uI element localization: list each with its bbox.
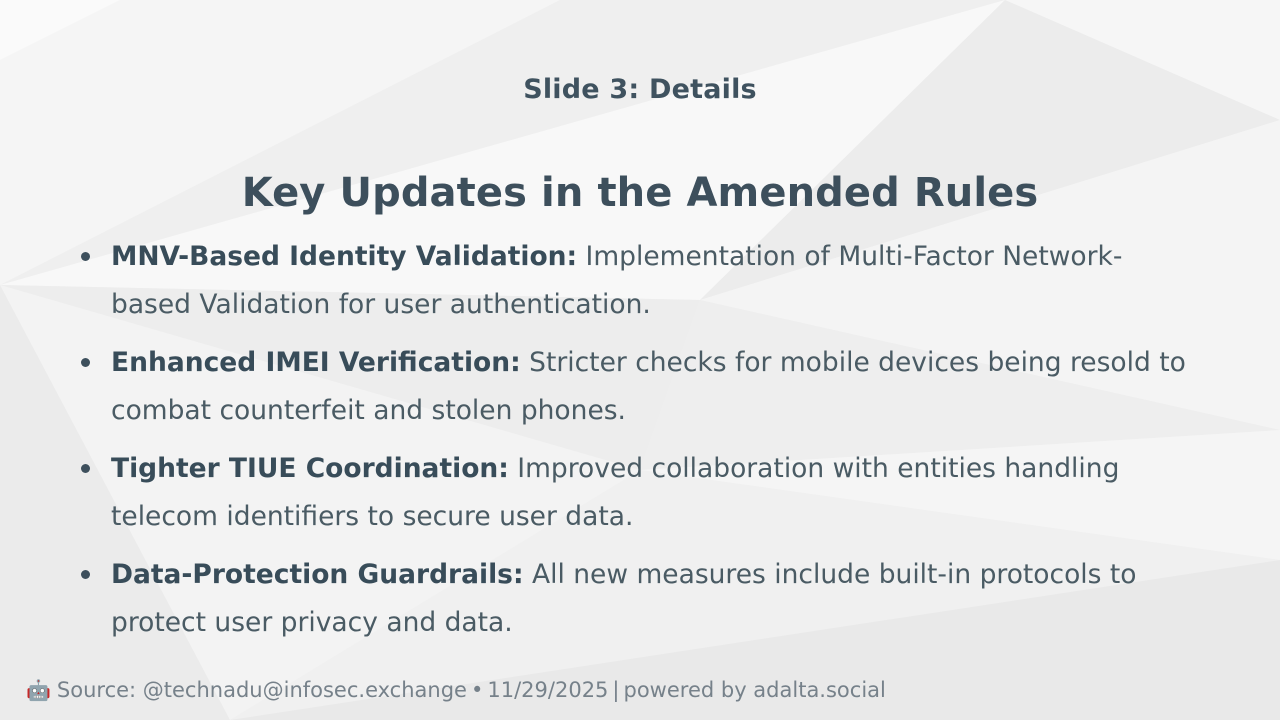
- footer-source: Source: @technadu@infosec.exchange: [57, 678, 467, 702]
- footer-divider: |: [608, 678, 623, 702]
- list-item: MNV-Based Identity Validation: Implement…: [70, 233, 1200, 329]
- bullet-lead: Data-Protection Guardrails:: [111, 559, 524, 590]
- list-item: Enhanced IMEI Verification: Stricter che…: [70, 339, 1200, 435]
- bullet-marker-icon: [81, 358, 90, 367]
- robot-face-icon: 🤖: [26, 678, 51, 702]
- slide-canvas: Slide 3: Details Key Updates in the Amen…: [0, 0, 1280, 720]
- slide-footer: 🤖Source: @technadu@infosec.exchange•11/2…: [26, 676, 886, 704]
- bullet-marker-icon: [81, 464, 90, 473]
- page-title: Key Updates in the Amended Rules: [0, 170, 1280, 216]
- bullet-lead: Enhanced IMEI Verification:: [111, 347, 521, 378]
- slide-eyebrow: Slide 3: Details: [0, 74, 1280, 105]
- bullet-lead: MNV-Based Identity Validation:: [111, 241, 577, 272]
- bullet-list: MNV-Based Identity Validation: Implement…: [70, 233, 1200, 657]
- bullet-lead: Tighter TIUE Coordination:: [111, 453, 509, 484]
- list-item: Data-Protection Guardrails: All new meas…: [70, 551, 1200, 647]
- bullet-marker-icon: [81, 252, 90, 261]
- bullet-marker-icon: [81, 570, 90, 579]
- slide-content: Slide 3: Details Key Updates in the Amen…: [0, 0, 1280, 720]
- footer-date: 11/29/2025: [487, 678, 608, 702]
- footer-powered-by: powered by adalta.social: [624, 678, 886, 702]
- footer-separator: •: [467, 678, 487, 702]
- list-item: Tighter TIUE Coordination: Improved coll…: [70, 445, 1200, 541]
